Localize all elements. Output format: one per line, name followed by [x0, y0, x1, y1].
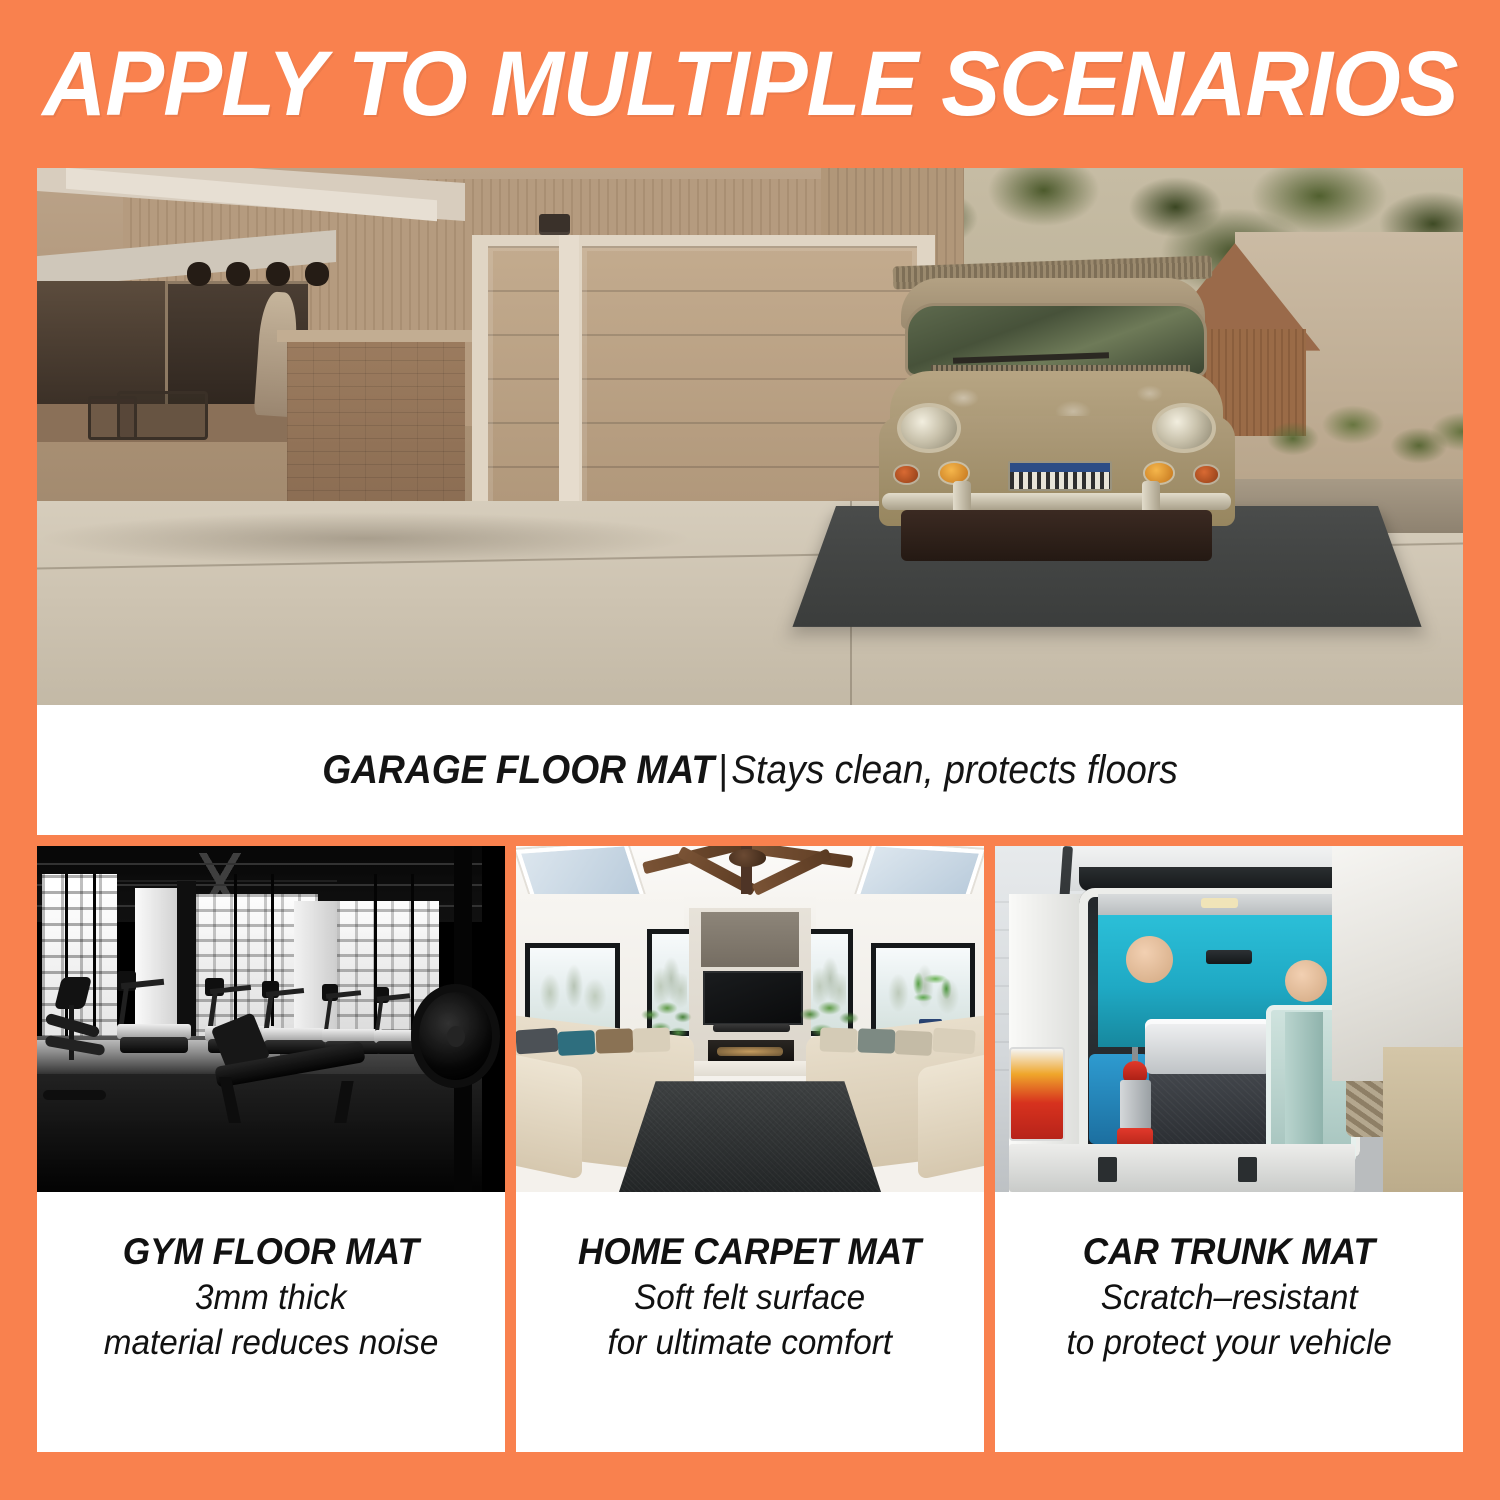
ceiling-fan-motor	[729, 849, 766, 866]
trunk-caption-line1: Scratch–resistant	[1101, 1275, 1358, 1320]
car-license-plate	[1008, 461, 1112, 491]
header-banner: APPLY TO MULTIPLE SCENARIOS	[0, 0, 1500, 168]
soundbar	[713, 1024, 790, 1032]
featured-photo-garage	[37, 168, 1463, 705]
metal-cooler	[1145, 1019, 1271, 1074]
tail-light	[1009, 1047, 1064, 1141]
page-title: APPLY TO MULTIPLE SCENARIOS	[42, 38, 1457, 130]
suitcase-center-panel	[1285, 1012, 1322, 1147]
home-caption: HOME CARPET MAT Soft felt surface for ul…	[516, 1192, 984, 1452]
rear-bumper	[1009, 1144, 1355, 1192]
potted-palm	[900, 964, 961, 1026]
featured-caption: GARAGE FLOOR MAT|Stays clean, protects f…	[37, 705, 1463, 835]
wall-mounted-tv	[703, 971, 803, 1025]
home-caption-line1: Soft felt surface	[634, 1275, 865, 1320]
car-side-marker-left	[893, 464, 919, 484]
car-lower-valance	[901, 510, 1212, 562]
rearview-mirror	[1206, 950, 1253, 964]
gym-scene	[37, 846, 505, 1192]
throw-pillow	[595, 1029, 633, 1055]
person-khaki-pants	[1383, 1047, 1463, 1192]
scenario-card-home: HOME CARPET MAT Soft felt surface for ul…	[516, 846, 984, 1452]
featured-caption-title: GARAGE FLOOR MAT	[322, 748, 714, 792]
home-caption-line2: for ultimate comfort	[608, 1320, 893, 1365]
home-caption-title: HOME CARPET MAT	[578, 1228, 921, 1275]
featured-caption-subtitle: Stays clean, protects floors	[731, 748, 1178, 792]
featured-caption-line: GARAGE FLOOR MAT|Stays clean, protects f…	[322, 748, 1178, 792]
living-room-scene	[516, 846, 984, 1192]
gym-ceiling-beam	[37, 863, 505, 865]
featured-caption-separator: |	[714, 748, 731, 792]
trunk-latch	[1098, 1157, 1117, 1181]
trunk-latch	[1238, 1157, 1257, 1181]
gym-caption: GYM FLOOR MAT 3mm thick material reduces…	[37, 1192, 505, 1452]
car-bumper	[882, 493, 1231, 509]
throw-pillow	[820, 1027, 858, 1053]
house-number	[187, 262, 330, 286]
vintage-car	[871, 249, 1242, 571]
gym-caption-title: GYM FLOOR MAT	[123, 1228, 419, 1275]
poster-root: APPLY TO MULTIPLE SCENARIOS	[0, 0, 1500, 1500]
featured-card: GARAGE FLOOR MAT|Stays clean, protects f…	[37, 168, 1463, 835]
throw-pillow	[633, 1027, 671, 1053]
gym-caption-line2: material reduces noise	[104, 1320, 439, 1365]
scenario-card-gym: GYM FLOOR MAT 3mm thick material reduces…	[37, 846, 505, 1452]
throw-pillow	[894, 1030, 933, 1056]
window-foliage	[535, 956, 609, 1022]
driveway-shadow	[37, 512, 693, 566]
car-side-marker-right	[1193, 464, 1219, 484]
throw-pillow	[857, 1029, 895, 1055]
dome-light-icon	[1201, 898, 1238, 908]
trunk-caption: CAR TRUNK MAT Scratch–resistant to prote…	[995, 1192, 1463, 1452]
suv-trunk-scene	[995, 846, 1463, 1192]
gym-caption-line1: 3mm thick	[195, 1275, 346, 1320]
car-headlight-left	[897, 403, 961, 453]
fireplace-hearth	[694, 1061, 811, 1077]
brick-column-cap	[277, 330, 477, 342]
fireplace-upper-panel	[701, 912, 799, 967]
treadmill	[117, 964, 192, 1061]
porch-light-icon	[539, 214, 570, 232]
camping-lantern	[1117, 1061, 1154, 1158]
throw-pillow	[516, 1028, 559, 1055]
garage-door-right	[582, 246, 917, 515]
gym-photo	[37, 846, 505, 1192]
barbell-weight-plate	[411, 984, 500, 1088]
sofa-right-arm	[918, 1053, 984, 1180]
adjustable-weight-bench	[215, 1019, 365, 1123]
garage-door-center-post	[559, 235, 579, 517]
scenario-card-trunk: CAR TRUNK MAT Scratch–resistant to prote…	[995, 846, 1463, 1452]
elliptical-machine	[42, 977, 117, 1102]
throw-pillow	[558, 1030, 597, 1056]
car-headlight-right	[1152, 403, 1216, 453]
patio-chair-second	[88, 396, 137, 440]
trunk-caption-title: CAR TRUNK MAT	[1083, 1228, 1375, 1275]
trunk-caption-line2: to protect your vehicle	[1066, 1320, 1391, 1365]
brick-column	[287, 334, 465, 517]
trunk-photo	[995, 846, 1463, 1192]
home-carpet-mat	[619, 1081, 881, 1192]
fireplace-logs	[717, 1047, 783, 1056]
sofa-left-arm	[516, 1053, 582, 1180]
throw-pillow	[932, 1028, 976, 1055]
home-photo	[516, 846, 984, 1192]
scenario-card-row: GYM FLOOR MAT 3mm thick material reduces…	[37, 846, 1463, 1452]
